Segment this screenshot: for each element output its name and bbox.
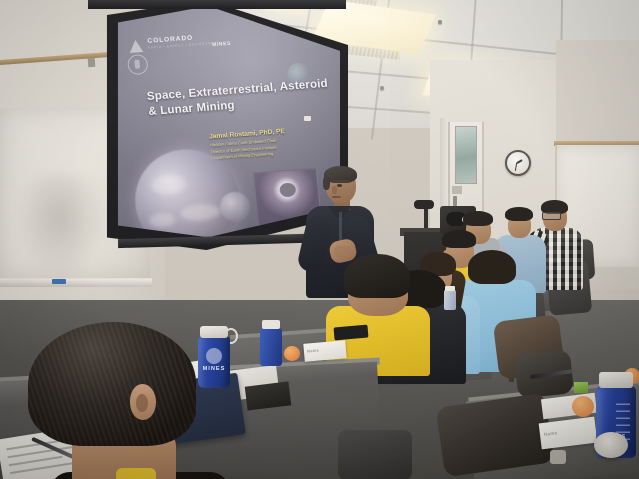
presenter-brow (332, 180, 350, 183)
chair (338, 430, 412, 479)
sprinkler-head-2 (380, 86, 384, 90)
door-plate (452, 186, 462, 194)
student-hair (463, 211, 493, 226)
mountain-triangle-icon (127, 38, 145, 55)
name-tent-text: Name (544, 430, 558, 437)
presenter-mouth (332, 196, 341, 198)
screen-side-tab (304, 116, 311, 121)
presenter-nose (332, 186, 337, 194)
slide-title: Space, Extraterrestrial, Asteroid & Luna… (146, 76, 339, 120)
clock-minute-hand (514, 163, 517, 171)
mines-logo: COLORADO EARTH • ENERGY • ENVIRONMENT MI… (127, 29, 239, 65)
sprinkler-head (438, 20, 442, 24)
student-collar (116, 468, 156, 479)
logo-mines-mark: MINES (212, 41, 231, 48)
classroom-photo: COLORADO EARTH • ENERGY • ENVIRONMENT MI… (0, 0, 639, 479)
student-hair-texture (28, 322, 196, 446)
door-handle[interactable] (453, 196, 457, 206)
bottle-cap (599, 372, 633, 388)
bottle-cap (262, 320, 280, 329)
wall-clock (505, 150, 531, 176)
bottle-cap (445, 286, 455, 291)
small-object (550, 450, 566, 464)
name-tent-card: Name (303, 340, 346, 362)
water-bottle-far (444, 286, 456, 310)
presenter-hair-side (323, 176, 330, 190)
bottle-lid (594, 432, 628, 458)
water-bottle-mid (260, 320, 282, 366)
student-hair (442, 230, 476, 248)
peach-fruit (572, 396, 594, 417)
wall-shadow (22, 175, 108, 280)
presenter-eye (337, 184, 342, 187)
marker-tray (0, 278, 152, 287)
orange-fruit (284, 346, 300, 361)
whiteboard-marker (52, 279, 66, 284)
student-ear-inner (136, 394, 148, 412)
school-seal-icon (127, 54, 149, 75)
name-tent-text: Name (307, 348, 320, 354)
screen-roller-housing (88, 0, 346, 9)
foreground-student-dark-hair (20, 322, 220, 479)
document-camera-head (414, 200, 434, 209)
door-window (455, 126, 477, 184)
helmet-visor (279, 182, 296, 197)
green-object (574, 382, 588, 393)
rail-clip (88, 58, 96, 67)
student-hair (344, 254, 410, 298)
